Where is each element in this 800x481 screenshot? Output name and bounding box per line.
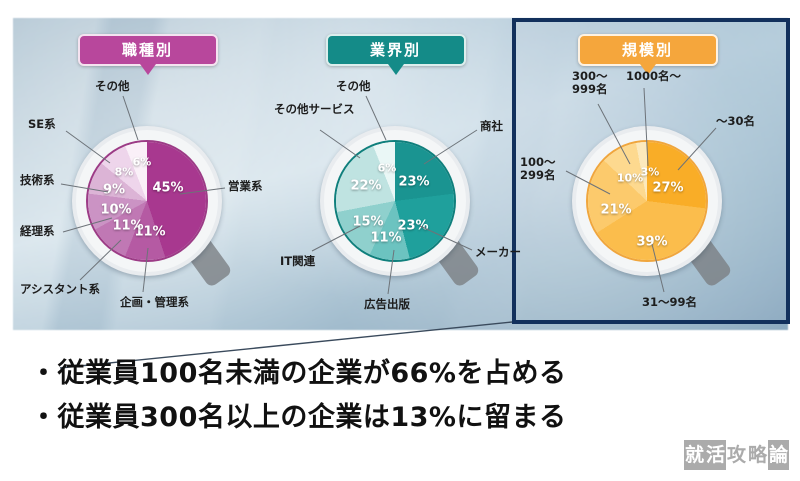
logo-char-5: 論 [768, 440, 789, 470]
summary-bullets: ・従業員100名未満の企業が66%を占める ・従業員300名以上の企業は13%に… [30, 352, 730, 440]
bullet-2: ・従業員300名以上の企業は13%に留まる [30, 396, 730, 440]
logo-char-1: 就 [684, 440, 705, 470]
logo-char-3: 攻 [726, 440, 747, 470]
chart-company-size: 規模別 27% 39% 21% 10% 3% 300～ 999名 1000名～ … [520, 18, 775, 324]
chart-industry: 業界別 23% 23% 11% 15% 22% 6% その他 その他サービス I… [268, 18, 523, 324]
logo-char-4: 略 [747, 440, 768, 470]
logo-char-2: 活 [705, 440, 726, 470]
chart-job-type: 職種別 45% 11% 11% 10% 9% 8% 6% その他 SE系 技術系… [20, 18, 275, 324]
leader-lines-job-type [20, 18, 275, 324]
bullet-1: ・従業員100名未満の企業が66%を占める [30, 352, 730, 396]
slide-canvas: 職種別 45% 11% 11% 10% 9% 8% 6% その他 SE系 技術系… [0, 0, 800, 481]
leader-lines-industry [268, 18, 523, 324]
leader-lines-company-size [520, 18, 775, 324]
watermark-logo: 就 活 攻 略 論 [684, 440, 789, 470]
